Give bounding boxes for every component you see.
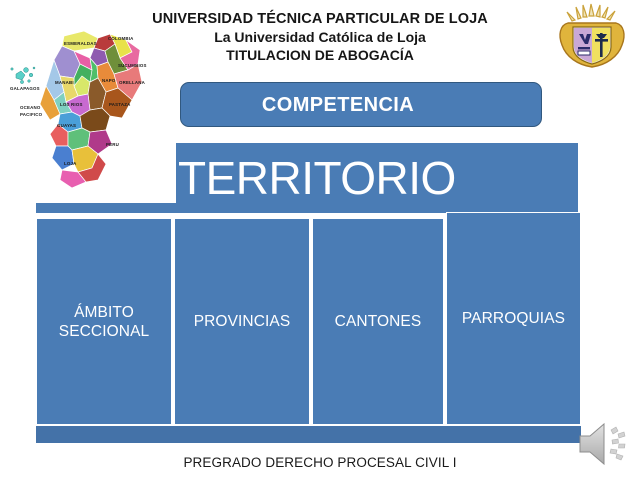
category-columns: ÁMBITOSECCIONAL PROVINCIAS CANTONES PARR…	[36, 212, 581, 425]
map-label: LOS RIOS	[60, 102, 83, 107]
column-parroquias[interactable]: PARROQUIAS	[446, 212, 581, 425]
column-cantones[interactable]: CANTONES	[312, 218, 444, 425]
bottom-accent-bar	[36, 426, 581, 443]
map-label: ESMERALDAS	[64, 41, 97, 46]
competencia-label: COMPETENCIA	[181, 94, 541, 117]
map-label: NAPO	[102, 78, 116, 83]
column-label-cantones: CANTONES	[335, 312, 422, 331]
competencia-box[interactable]: COMPETENCIA	[180, 82, 542, 127]
map-label: GALAPAGOS	[10, 86, 40, 91]
column-label-ambito-seccional: ÁMBITOSECCIONAL	[59, 303, 149, 341]
column-label-parroquias: PARROQUIAS	[462, 309, 565, 328]
map-label: PERU	[106, 142, 119, 147]
column-label-provincias: PROVINCIAS	[194, 312, 291, 331]
slide-canvas: UNIVERSIDAD TÉCNICA PARTICULAR DE LOJA L…	[0, 0, 640, 480]
map-label: LOJA	[64, 161, 77, 166]
header-block: UNIVERSIDAD TÉCNICA PARTICULAR DE LOJA L…	[120, 10, 520, 64]
program-title: TITULACION DE ABOGACÍA	[120, 46, 520, 64]
university-name: UNIVERSIDAD TÉCNICA PARTICULAR DE LOJA	[120, 10, 520, 28]
map-label: PASTAZA	[109, 102, 130, 107]
university-subtitle: La Universidad Católica de Loja	[120, 28, 520, 46]
territorio-label: TERRITORIO	[178, 147, 456, 209]
column-ambito-seccional[interactable]: ÁMBITOSECCIONAL	[36, 218, 172, 425]
speaker-icon[interactable]	[578, 418, 634, 470]
column-provincias[interactable]: PROVINCIAS	[174, 218, 310, 425]
utpl-crest-logo	[552, 3, 632, 71]
map-label: GUAYAS	[57, 123, 76, 128]
map-label: MANABI	[55, 80, 74, 85]
map-label: OCEANO	[20, 105, 40, 110]
footer-course-title: PREGRADO DERECHO PROCESAL CIVIL I	[0, 455, 640, 470]
map-label: PACIFICO	[20, 112, 42, 117]
map-label: ORELLANA	[119, 80, 145, 85]
